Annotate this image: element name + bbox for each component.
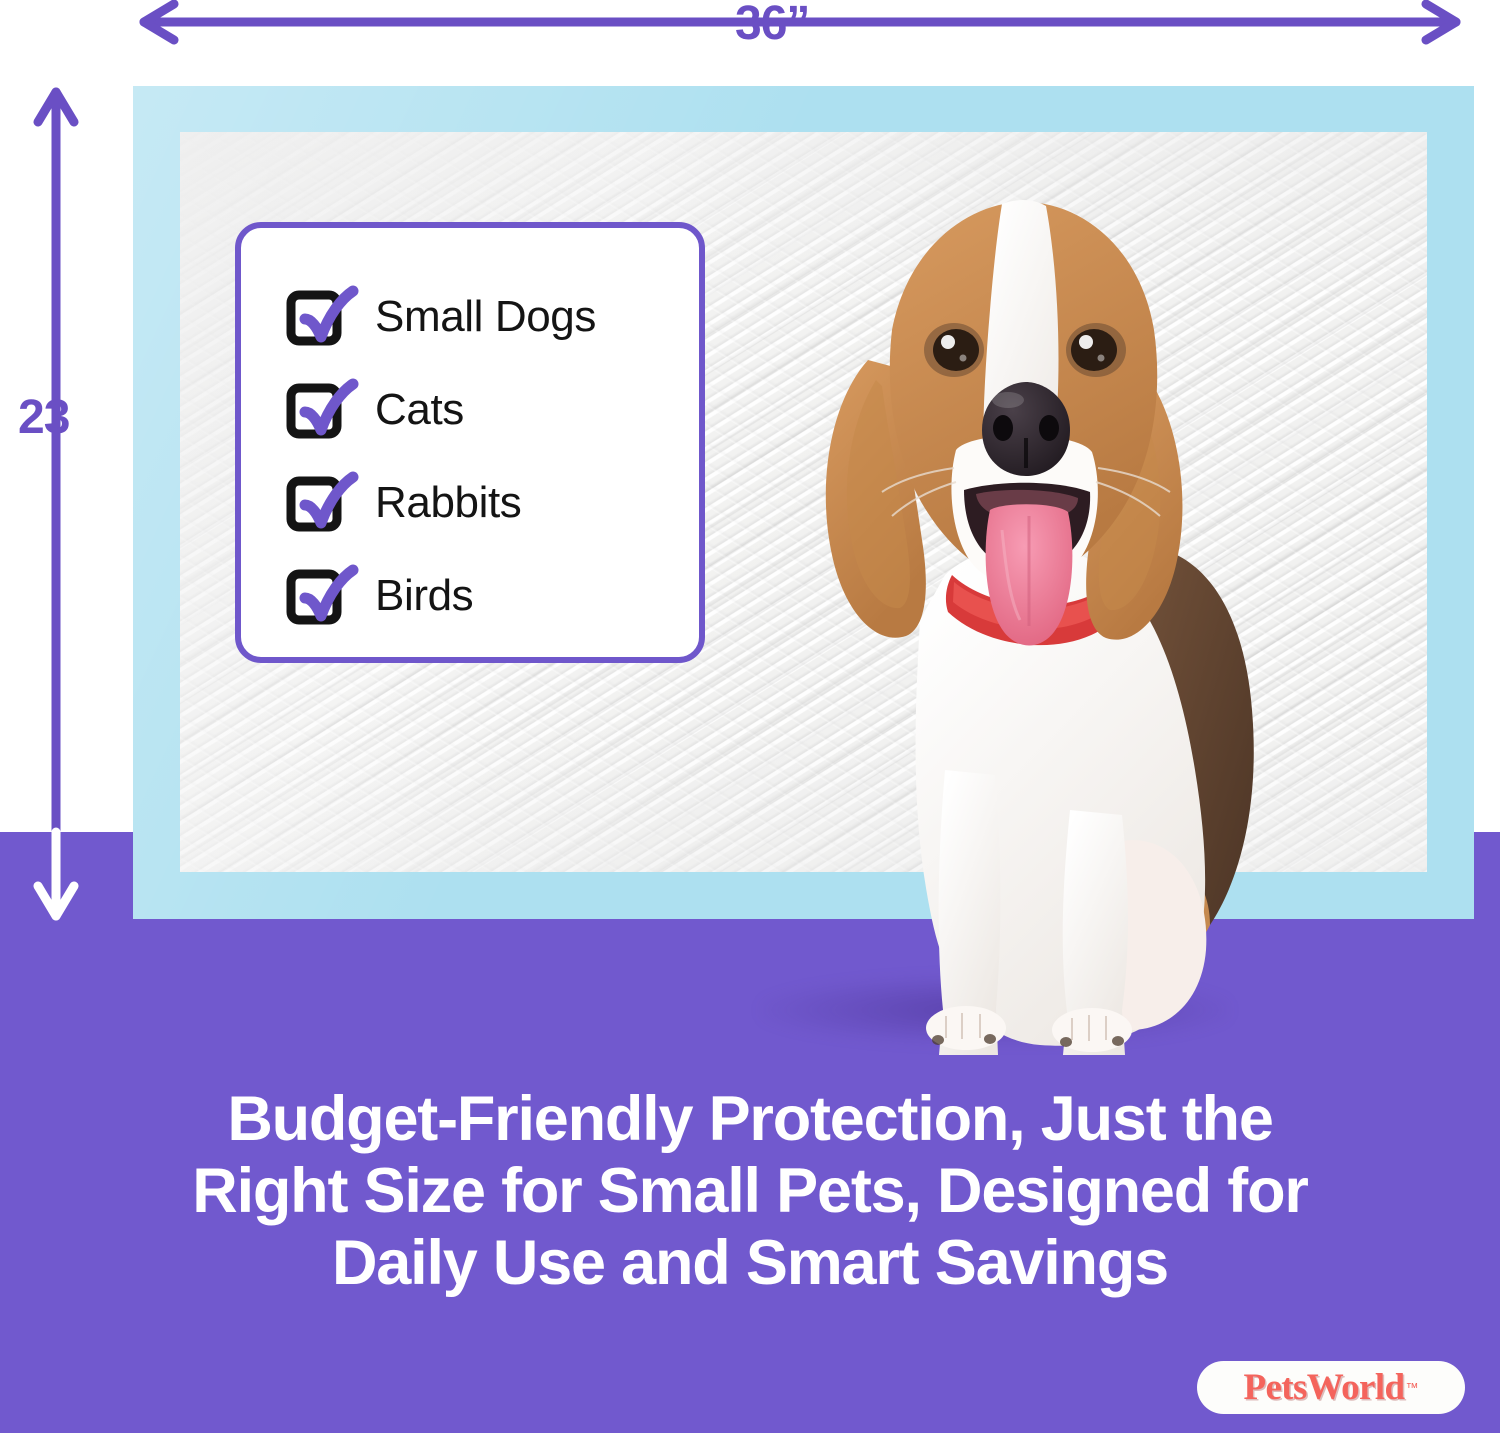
dog-nose <box>982 382 1070 476</box>
checklist-item-label: Rabbits <box>375 478 521 528</box>
trademark-symbol: ™ <box>1406 1380 1419 1395</box>
checklist-item-label: Small Dogs <box>375 292 596 342</box>
marketing-headline: Budget-Friendly Protection, Just the Rig… <box>0 1083 1500 1299</box>
product-image-canvas: 36” 23 Small Dogs <box>0 0 1500 1433</box>
checkbox-checked-icon <box>287 378 357 442</box>
headline-line-1: Budget-Friendly Protection, Just the <box>100 1083 1400 1155</box>
checklist-item: Cats <box>287 363 699 456</box>
checkbox-checked-icon <box>287 285 357 349</box>
checklist-item-label: Cats <box>375 385 464 435</box>
suitable-pets-checklist: Small Dogs Cats Rabbits <box>235 222 705 663</box>
petsworld-logo: PetsWorld™ <box>1197 1361 1465 1414</box>
checkbox-checked-icon <box>287 471 357 535</box>
headline-line-2: Right Size for Small Pets, Designed for <box>100 1155 1400 1227</box>
checkbox-checked-icon <box>287 564 357 628</box>
logo-brand-name: PetsWorld <box>1243 1369 1404 1406</box>
height-dimension-label: 23 <box>18 390 69 445</box>
checklist-item-label: Birds <box>375 571 473 621</box>
checklist-item: Rabbits <box>287 456 699 549</box>
beagle-dog-photo <box>740 150 1360 1050</box>
checklist-item: Small Dogs <box>287 270 699 363</box>
height-dimension-arrow <box>26 84 86 924</box>
headline-line-3: Daily Use and Smart Savings <box>100 1227 1400 1299</box>
checklist-item: Birds <box>287 549 699 642</box>
width-dimension-label: 36” <box>735 0 809 51</box>
